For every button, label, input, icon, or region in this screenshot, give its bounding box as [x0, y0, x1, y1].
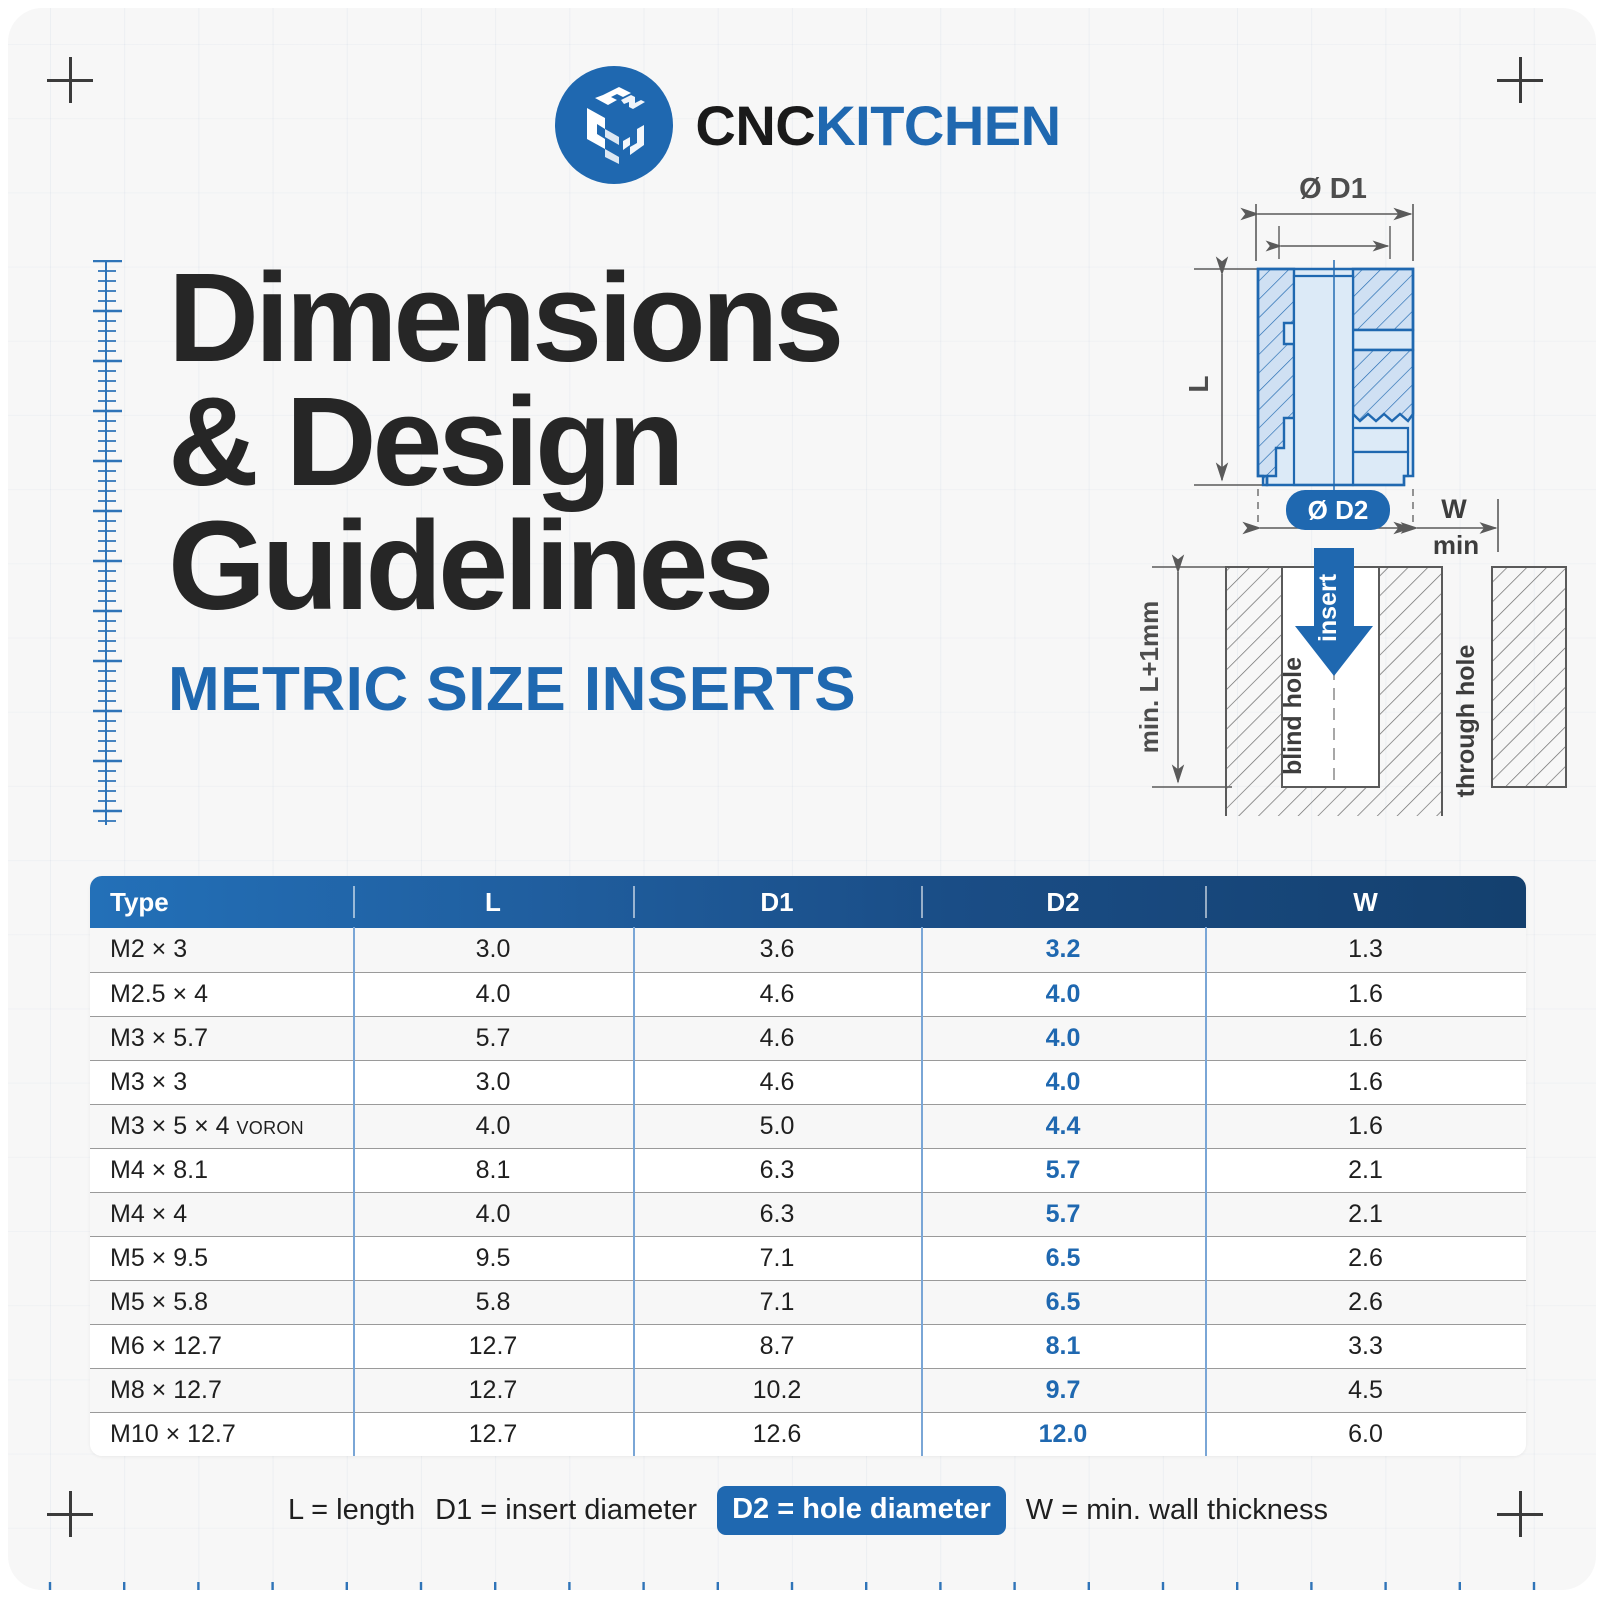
- cell-l: 4.0: [353, 972, 633, 1016]
- brand-name-cnc: CNC: [695, 93, 815, 158]
- legend-item-l: L = length: [288, 1494, 415, 1527]
- cell-w: 1.3: [1205, 928, 1526, 972]
- cell-d1: 4.6: [633, 1060, 921, 1104]
- column-header-w: W: [1205, 876, 1526, 928]
- cell-w: 3.3: [1205, 1324, 1526, 1368]
- dimensions-table: Type L D1 D2 W M2 × 33.03.63.21.3M2.5 × …: [90, 876, 1526, 1456]
- cell-l: 12.7: [353, 1324, 633, 1368]
- cell-l: 12.7: [353, 1368, 633, 1412]
- table-header: Type L D1 D2 W: [90, 876, 1526, 928]
- cell-d1: 8.7: [633, 1324, 921, 1368]
- page-title: Dimensions & Design Guidelines: [168, 256, 1088, 628]
- cell-d1: 4.6: [633, 1016, 921, 1060]
- cell-type: M5 × 5.8: [90, 1280, 353, 1324]
- cell-d2: 5.7: [921, 1148, 1205, 1192]
- horizontal-ruler: [8, 1554, 1596, 1590]
- cell-type: M8 × 12.7: [90, 1368, 353, 1412]
- cell-type-suffix: VORON: [236, 1118, 304, 1138]
- cell-d1: 6.3: [633, 1192, 921, 1236]
- cell-d2: 4.0: [921, 1016, 1205, 1060]
- table-row: M2.5 × 44.04.64.01.6: [90, 972, 1526, 1016]
- cell-d1: 7.1: [633, 1280, 921, 1324]
- cell-d2: 6.5: [921, 1280, 1205, 1324]
- cell-d1: 10.2: [633, 1368, 921, 1412]
- table-row: M3 × 33.04.64.01.6: [90, 1060, 1526, 1104]
- title-line-2: & Design: [168, 380, 1088, 504]
- cell-d2: 5.7: [921, 1192, 1205, 1236]
- cell-w: 1.6: [1205, 1104, 1526, 1148]
- cell-l: 3.0: [353, 928, 633, 972]
- cell-w: 1.6: [1205, 1016, 1526, 1060]
- legend-item-w: W = min. wall thickness: [1026, 1494, 1328, 1527]
- cell-d1: 12.6: [633, 1412, 921, 1456]
- cell-w: 2.6: [1205, 1236, 1526, 1280]
- cell-type: M3 × 5.7: [90, 1016, 353, 1060]
- table-row: M5 × 5.85.87.16.52.6: [90, 1280, 1526, 1324]
- cell-w: 2.1: [1205, 1148, 1526, 1192]
- legend-item-d2: D2 = hole diameter: [717, 1486, 1006, 1535]
- svg-text:through hole: through hole: [1452, 645, 1480, 798]
- cell-d2: 4.0: [921, 972, 1205, 1016]
- svg-text:Ø D2: Ø D2: [1308, 495, 1369, 525]
- cell-w: 1.6: [1205, 972, 1526, 1016]
- cell-l: 8.1: [353, 1148, 633, 1192]
- table-row: M6 × 12.712.78.78.13.3: [90, 1324, 1526, 1368]
- table-row: M4 × 8.18.16.35.72.1: [90, 1148, 1526, 1192]
- cell-l: 3.0: [353, 1060, 633, 1104]
- technical-drawing: Ø D1 L: [1126, 156, 1596, 816]
- table-row: M3 × 5.75.74.64.01.6: [90, 1016, 1526, 1060]
- cell-d2: 3.2: [921, 928, 1205, 972]
- table-row: M5 × 9.59.57.16.52.6: [90, 1236, 1526, 1280]
- cell-w: 2.6: [1205, 1280, 1526, 1324]
- poster-card: CNCKITCHEN Dimensions & Design Guideline…: [8, 8, 1596, 1590]
- svg-text:min. L+1mm: min. L+1mm: [1134, 601, 1164, 753]
- svg-text:L: L: [1183, 375, 1214, 392]
- cell-d2: 12.0: [921, 1412, 1205, 1456]
- cell-l: 9.5: [353, 1236, 633, 1280]
- cell-type: M6 × 12.7: [90, 1324, 353, 1368]
- brand-wordmark: CNCKITCHEN: [695, 93, 1060, 158]
- svg-text:blind hole: blind hole: [1279, 657, 1307, 775]
- cell-d1: 3.6: [633, 928, 921, 972]
- table-row: M10 × 12.712.712.612.06.0: [90, 1412, 1526, 1456]
- column-header-type: Type: [90, 876, 353, 928]
- column-header-d1: D1: [633, 876, 921, 928]
- table-row: M4 × 44.06.35.72.1: [90, 1192, 1526, 1236]
- table-row: M2 × 33.03.63.21.3: [90, 928, 1526, 972]
- cell-l: 5.8: [353, 1280, 633, 1324]
- cell-d1: 6.3: [633, 1148, 921, 1192]
- cell-d1: 7.1: [633, 1236, 921, 1280]
- cell-w: 1.6: [1205, 1060, 1526, 1104]
- title-block: Dimensions & Design Guidelines METRIC SI…: [168, 256, 1088, 725]
- table-row: M8 × 12.712.710.29.74.5: [90, 1368, 1526, 1412]
- cell-type: M2.5 × 4: [90, 972, 353, 1016]
- legend-item-d1: D1 = insert diameter: [435, 1494, 697, 1527]
- title-line-1: Dimensions: [168, 256, 1088, 380]
- page-subtitle: METRIC SIZE INSERTS: [168, 654, 1088, 725]
- cell-type: M5 × 9.5: [90, 1236, 353, 1280]
- cell-type: M10 × 12.7: [90, 1412, 353, 1456]
- cell-l: 5.7: [353, 1016, 633, 1060]
- cell-d2: 6.5: [921, 1236, 1205, 1280]
- svg-text:Ø D1: Ø D1: [1299, 173, 1367, 205]
- cnc-cube-logo-icon: [555, 66, 673, 184]
- cell-l: 12.7: [353, 1412, 633, 1456]
- poster-root: CNCKITCHEN Dimensions & Design Guideline…: [0, 0, 1600, 1600]
- cell-w: 4.5: [1205, 1368, 1526, 1412]
- svg-text:insert: insert: [1314, 573, 1342, 642]
- column-header-d2: D2: [921, 876, 1205, 928]
- cell-type: M4 × 4: [90, 1192, 353, 1236]
- cell-type: M3 × 3: [90, 1060, 353, 1104]
- cell-d1: 5.0: [633, 1104, 921, 1148]
- svg-text:W: W: [1441, 494, 1467, 524]
- vertical-ruler: [92, 260, 132, 825]
- svg-text:min: min: [1433, 530, 1479, 560]
- cell-d1: 4.6: [633, 972, 921, 1016]
- cell-d2: 4.0: [921, 1060, 1205, 1104]
- cell-w: 6.0: [1205, 1412, 1526, 1456]
- cell-l: 4.0: [353, 1104, 633, 1148]
- legend-row: L = length D1 = insert diameter D2 = hol…: [8, 1486, 1596, 1535]
- cell-type: M4 × 8.1: [90, 1148, 353, 1192]
- cell-d2: 8.1: [921, 1324, 1205, 1368]
- brand-name-kitchen: KITCHEN: [815, 93, 1060, 158]
- title-line-3: Guidelines: [168, 504, 1088, 628]
- cell-type: M2 × 3: [90, 928, 353, 972]
- column-header-l: L: [353, 876, 633, 928]
- cell-d2: 9.7: [921, 1368, 1205, 1412]
- cell-l: 4.0: [353, 1192, 633, 1236]
- cell-d2: 4.4: [921, 1104, 1205, 1148]
- table-header-row: Type L D1 D2 W: [90, 876, 1526, 928]
- cell-type: M3 × 5 × 4 VORON: [90, 1104, 353, 1148]
- table-body: M2 × 33.03.63.21.3M2.5 × 44.04.64.01.6M3…: [90, 928, 1526, 1456]
- cell-w: 2.1: [1205, 1192, 1526, 1236]
- table-row: M3 × 5 × 4 VORON4.05.04.41.6: [90, 1104, 1526, 1148]
